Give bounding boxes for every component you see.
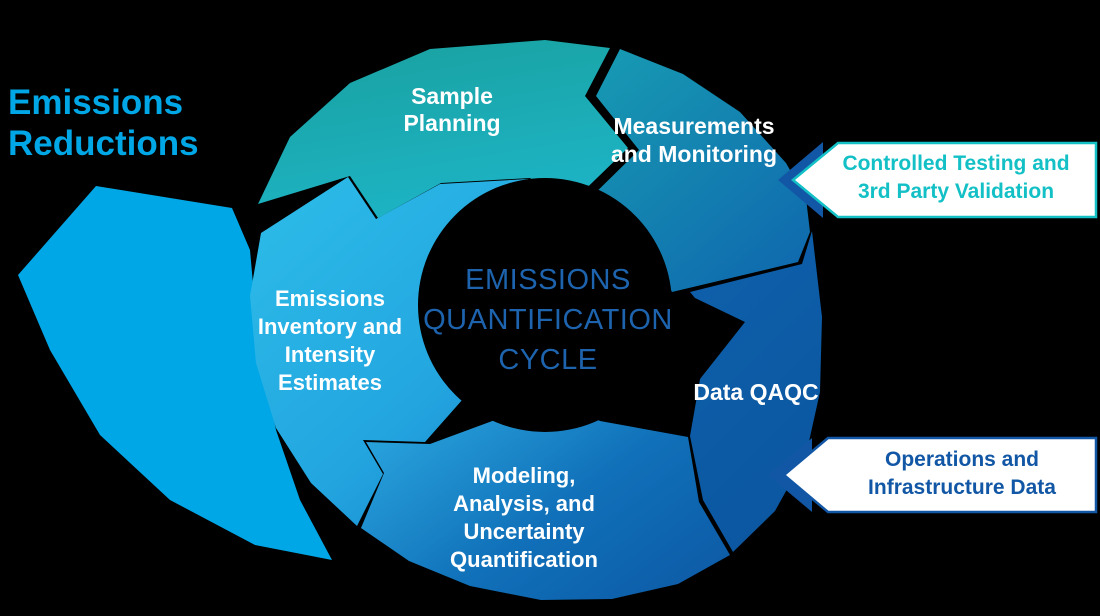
center-title-line3: CYCLE xyxy=(498,344,597,376)
outer-title-line2: Reductions xyxy=(8,124,199,163)
segment-label-inventory-line1: Emissions xyxy=(275,286,385,311)
segment-label-sample-planning-line2: Planning xyxy=(403,110,500,136)
callout-operations-line2: Infrastructure Data xyxy=(868,476,1056,499)
callout-controlled-testing-line2: 3rd Party Validation xyxy=(858,180,1054,203)
emissions-quantification-cycle-diagram: Sample Planning Measurements and Monitor… xyxy=(0,0,1100,616)
callout-controlled-testing-line1: Controlled Testing and xyxy=(842,152,1069,175)
segment-label-measurements-line2: and Monitoring xyxy=(611,141,777,167)
segment-label-modeling-line1: Modeling, xyxy=(473,463,576,488)
segment-label-measurements-line1: Measurements xyxy=(613,113,774,139)
diagram-canvas: Sample Planning Measurements and Monitor… xyxy=(0,0,1100,616)
segment-label-inventory-line3: Intensity xyxy=(285,342,376,367)
center-title-line1: EMISSIONS xyxy=(465,264,631,296)
segment-label-modeling-line4: Quantification xyxy=(450,547,598,572)
center-title-line2: QUANTIFICATION xyxy=(423,304,673,336)
segment-label-data-qaqc: Data QAQC xyxy=(693,379,818,405)
callout-operations-line1: Operations and xyxy=(885,448,1039,471)
segment-label-sample-planning-line1: Sample xyxy=(411,83,493,109)
outer-title-line1: Emissions xyxy=(8,83,183,122)
segment-label-inventory-line4: Estimates xyxy=(278,370,382,395)
segment-label-modeling-line2: Analysis, and xyxy=(453,491,595,516)
segment-label-modeling-line3: Uncertainty xyxy=(463,519,585,544)
segment-label-inventory-line2: Inventory and xyxy=(258,314,402,339)
